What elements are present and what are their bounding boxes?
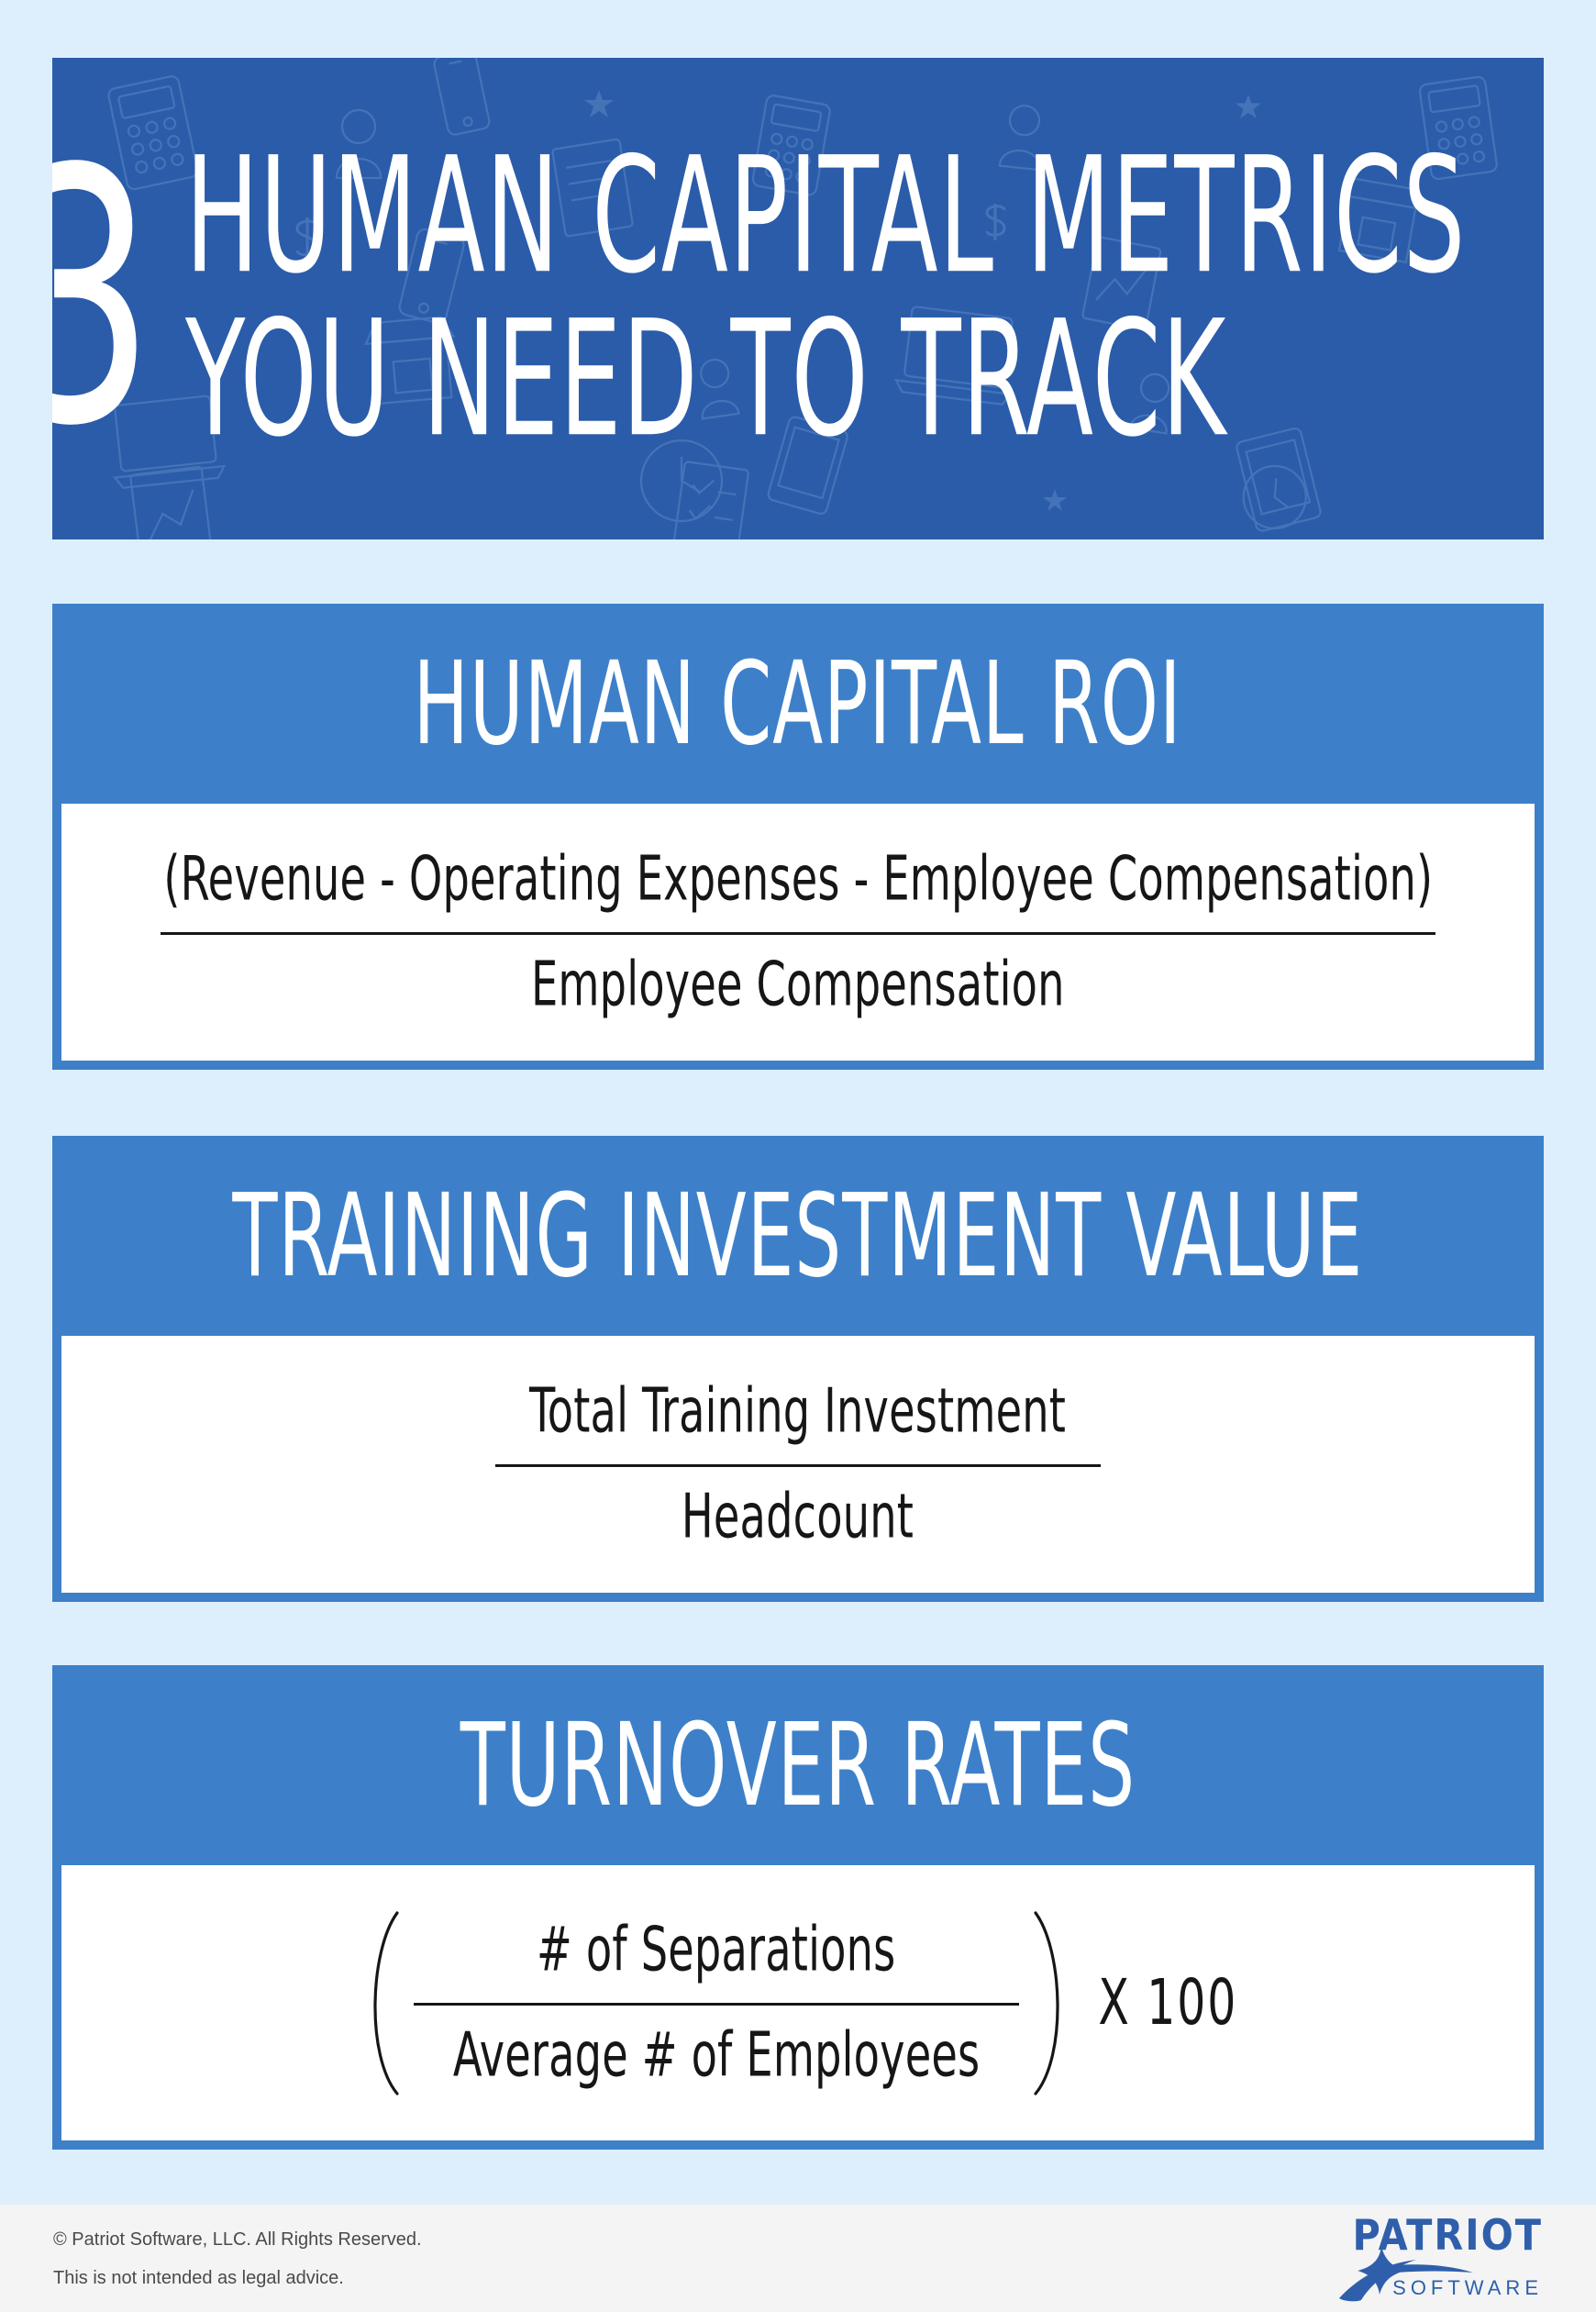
logo-subtext: SOFTWARE xyxy=(1392,2278,1543,2298)
hero-number: 3 xyxy=(52,155,150,442)
footer-disclaimer: This is not intended as legal advice. xyxy=(53,2269,422,2287)
formula-fraction: (Revenue - Operating Expenses - Employee… xyxy=(161,846,1435,1017)
footer-text-group: © Patriot Software, LLC. All Rights Rese… xyxy=(53,2230,422,2287)
card-header: HUMAN CAPITAL ROI xyxy=(52,604,1544,804)
card-formula-area: # of Separations Average # of Employees … xyxy=(61,1865,1535,2140)
card-header: TRAINING INVESTMENT VALUE xyxy=(52,1136,1544,1336)
card-formula-area: (Revenue - Operating Expenses - Employee… xyxy=(61,804,1535,1061)
patriot-software-logo: PATRIOT SOFTWARE xyxy=(1341,2214,1543,2304)
card-title: HUMAN CAPITAL ROI xyxy=(414,647,1182,761)
metric-card-training-investment-value: TRAINING INVESTMENT VALUE Total Training… xyxy=(52,1136,1544,1602)
metric-card-human-capital-roi: HUMAN CAPITAL ROI (Revenue - Operating E… xyxy=(52,604,1544,1070)
infographic-page: 3 HUMAN CAPITAL METRICS YOU NEED TO TRAC… xyxy=(0,0,1596,2312)
formula-multiplier: X 100 xyxy=(1098,1966,1237,2039)
left-parenthesis-icon xyxy=(357,1909,408,2097)
card-title: TRAINING INVESTMENT VALUE xyxy=(233,1179,1364,1294)
fraction-denominator: Average # of Employees xyxy=(448,2013,985,2097)
hero-title-group: 3 HUMAN CAPITAL METRICS YOU NEED TO TRAC… xyxy=(52,58,1544,539)
fraction-numerator: # of Separations xyxy=(531,1908,901,1993)
logo-row-2: SOFTWARE xyxy=(1341,2258,1543,2304)
card-title: TURNOVER RATES xyxy=(460,1708,1136,1823)
hero-title-line-1: HUMAN CAPITAL METRICS xyxy=(185,134,1466,300)
fraction-denominator: Employee Compensation xyxy=(526,942,1070,1027)
fraction-bar xyxy=(495,1464,1101,1467)
hero-title-line-2: YOU NEED TO TRACK xyxy=(185,297,1466,463)
card-formula-area: Total Training Investment Headcount xyxy=(61,1336,1535,1593)
formula-fraction: Total Training Investment Headcount xyxy=(495,1378,1101,1550)
fraction-numerator: (Revenue - Operating Expenses - Employee… xyxy=(158,838,1438,922)
card-header: TURNOVER RATES xyxy=(52,1665,1544,1865)
fraction-denominator: Headcount xyxy=(677,1474,920,1559)
formula-fraction: # of Separations Average # of Employees xyxy=(414,1917,1019,2088)
fraction-bar xyxy=(414,2003,1019,2006)
turnover-expression: # of Separations Average # of Employees … xyxy=(357,1909,1240,2097)
hero-title-lines: HUMAN CAPITAL METRICS YOU NEED TO TRACK xyxy=(185,154,1544,443)
page-footer: © Patriot Software, LLC. All Rights Rese… xyxy=(0,2205,1596,2312)
fraction-numerator: Total Training Investment xyxy=(525,1370,1072,1454)
right-parenthesis-icon xyxy=(1025,1909,1076,2097)
footer-copyright: © Patriot Software, LLC. All Rights Rese… xyxy=(53,2230,422,2249)
metric-card-turnover-rates: TURNOVER RATES # of Separations Average … xyxy=(52,1665,1544,2150)
fraction-bar xyxy=(161,932,1435,935)
hero-banner: 3 HUMAN CAPITAL METRICS YOU NEED TO TRAC… xyxy=(52,58,1544,539)
